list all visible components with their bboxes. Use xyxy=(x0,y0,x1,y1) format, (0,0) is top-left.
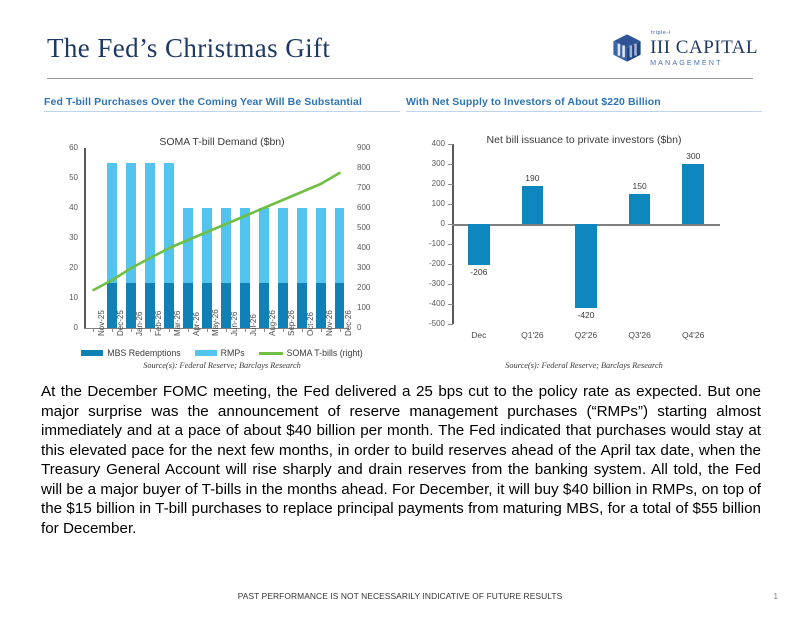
x-axis-tick xyxy=(169,329,170,332)
chart-net-bill-issuance: Net bill issuance to private investors (… xyxy=(406,118,762,358)
x-axis-tick xyxy=(340,329,341,332)
panel-right-heading: With Net Supply to Investors of About $2… xyxy=(406,96,762,108)
x-axis-tick xyxy=(302,329,303,332)
legend-swatch-line xyxy=(259,352,283,355)
y-axis-tick-mark xyxy=(448,244,453,245)
legend-swatch xyxy=(81,350,103,356)
bar-net-issuance xyxy=(575,224,596,308)
bar-net-issuance xyxy=(682,164,703,224)
panel-right: With Net Supply to Investors of About $2… xyxy=(406,96,762,358)
y-axis-tick-mark xyxy=(448,184,453,185)
legend-label: RMPs xyxy=(221,348,245,358)
body-paragraph: At the December FOMC meeting, the Fed de… xyxy=(41,382,761,538)
x-axis-tick xyxy=(150,329,151,332)
bar-net-issuance xyxy=(629,194,650,224)
y-axis-right-tick: 700 xyxy=(357,183,387,192)
y-axis-tick: 100 xyxy=(412,199,445,208)
y-axis-left-tick: 10 xyxy=(48,293,78,302)
legend-item: MBS Redemptions xyxy=(81,348,180,358)
x-axis-label: Q4'26 xyxy=(663,330,723,340)
page-number: 1 xyxy=(773,591,778,601)
company-logo: triple-i III CAPITAL MANAGEMENT xyxy=(610,31,758,66)
x-axis-tick xyxy=(131,329,132,332)
bar-data-label: -206 xyxy=(453,267,505,277)
legend-label: SOMA T-bills (right) xyxy=(287,348,363,358)
panel-left: Fed T-bill Purchases Over the Coming Yea… xyxy=(44,96,400,358)
logo-subtitle: MANAGEMENT xyxy=(650,59,758,66)
legend-swatch xyxy=(195,350,217,356)
chart-left-legend: MBS RedemptionsRMPsSOMA T-bills (right) xyxy=(44,348,400,358)
y-axis-tick: -200 xyxy=(412,259,445,268)
y-axis-tick: 200 xyxy=(412,179,445,188)
y-axis-right-tick: 900 xyxy=(357,143,387,152)
bar-data-label: 300 xyxy=(667,151,719,161)
line-soma-tbills xyxy=(84,148,349,328)
y-axis-tick-mark xyxy=(448,204,453,205)
x-axis-tick xyxy=(245,329,246,332)
y-axis-right-tick: 500 xyxy=(357,223,387,232)
x-axis-label: Q2'26 xyxy=(556,330,616,340)
y-axis-tick-mark xyxy=(448,264,453,265)
source-left: Source(s): Federal Reserve; Barclays Res… xyxy=(44,361,400,370)
y-axis-tick: 300 xyxy=(412,159,445,168)
x-axis-label: Q1'26 xyxy=(502,330,562,340)
y-axis xyxy=(452,144,454,324)
x-axis-tick xyxy=(283,329,284,332)
y-axis-left-tick: 30 xyxy=(48,233,78,242)
bar-net-issuance xyxy=(522,186,543,224)
logo-name: III CAPITAL xyxy=(650,38,758,57)
legend-label: MBS Redemptions xyxy=(107,348,180,358)
y-axis-right-tick: 400 xyxy=(357,243,387,252)
y-axis-tick: 400 xyxy=(412,139,445,148)
panel-left-heading-rule xyxy=(44,111,400,112)
y-axis-left-tick: 0 xyxy=(48,323,78,332)
x-axis-tick xyxy=(264,329,265,332)
x-axis-label: Dec xyxy=(449,330,509,340)
bar-net-issuance xyxy=(468,224,489,265)
page-title: The Fed’s Christmas Gift xyxy=(47,33,330,64)
y-axis-left-tick: 60 xyxy=(48,143,78,152)
y-axis-right-tick: 100 xyxy=(357,303,387,312)
y-axis-tick: -100 xyxy=(412,239,445,248)
y-axis-tick: -500 xyxy=(412,319,445,328)
y-axis-tick-mark xyxy=(448,324,453,325)
x-axis-tick xyxy=(321,329,322,332)
x-axis-tick xyxy=(207,329,208,332)
x-axis-tick xyxy=(112,329,113,332)
slide: The Fed’s Christmas Gift triple-i III CA… xyxy=(0,0,800,618)
bar-data-label: 190 xyxy=(506,173,558,183)
y-axis-left-tick: 40 xyxy=(48,203,78,212)
y-axis-left-tick: 50 xyxy=(48,173,78,182)
cube-logo-icon xyxy=(610,31,644,65)
legend-item: SOMA T-bills (right) xyxy=(259,348,363,358)
chart-left-title: SOMA T-bill Demand ($bn) xyxy=(44,136,400,148)
x-axis-tick xyxy=(188,329,189,332)
y-axis-right-tick: 200 xyxy=(357,283,387,292)
y-axis-tick: 0 xyxy=(412,219,445,228)
bar-data-label: 150 xyxy=(614,181,666,191)
x-axis-tick xyxy=(226,329,227,332)
y-axis-tick: -400 xyxy=(412,299,445,308)
bar-data-label: -420 xyxy=(560,310,612,320)
x-axis-label: Q3'26 xyxy=(610,330,670,340)
y-axis-tick-mark xyxy=(448,304,453,305)
y-axis-right-tick: 600 xyxy=(357,203,387,212)
y-axis-right-tick: 300 xyxy=(357,263,387,272)
title-divider xyxy=(47,78,753,79)
footer-disclaimer: PAST PERFORMANCE IS NOT NECESSARILY INDI… xyxy=(0,591,800,601)
panel-right-heading-rule xyxy=(406,111,762,112)
x-axis-tick xyxy=(93,329,94,332)
panel-left-heading: Fed T-bill Purchases Over the Coming Yea… xyxy=(44,96,400,108)
y-axis-tick-mark xyxy=(448,224,453,225)
logo-tagline: triple-i xyxy=(651,31,758,37)
y-axis-tick-mark xyxy=(448,284,453,285)
source-right: Source(s): Federal Reserve; Barclays Res… xyxy=(406,361,762,370)
y-axis-left-tick: 20 xyxy=(48,263,78,272)
y-axis-tick-mark xyxy=(448,164,453,165)
y-axis-right-tick: 800 xyxy=(357,163,387,172)
legend-item: RMPs xyxy=(195,348,245,358)
y-axis-tick: -300 xyxy=(412,279,445,288)
y-axis-tick-mark xyxy=(448,144,453,145)
chart-soma-tbill-demand: SOMA T-bill Demand ($bn) 010203040506001… xyxy=(44,118,400,358)
y-axis-right-tick: 0 xyxy=(357,323,387,332)
